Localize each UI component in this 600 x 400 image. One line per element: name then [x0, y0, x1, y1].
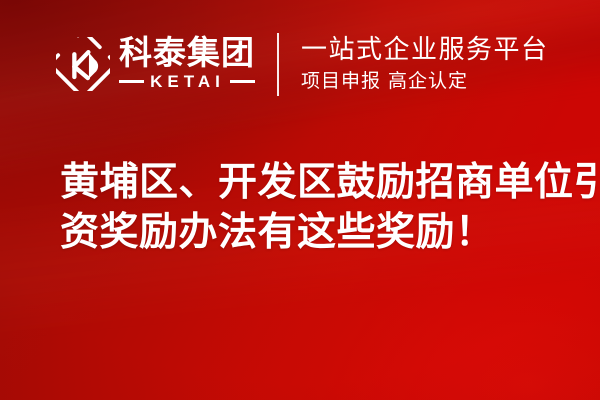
header-tagline-block: 一站式企业服务平台 项目申报 高企认定 — [301, 35, 549, 93]
headline-block: 黄埔区、开发区鼓励招商单位引 资奖励办法有这些奖励！ — [60, 158, 580, 258]
banner-header: 科泰集团 KETAI 一站式企业服务平台 项目申报 高企认定 — [0, 0, 600, 128]
ketai-diamond-kt-monogram-icon — [56, 37, 110, 91]
wordmark-rule-right — [230, 80, 255, 83]
brand-wordmark: 科泰集团 KETAI — [119, 36, 255, 92]
promo-banner: 科泰集团 KETAI 一站式企业服务平台 项目申报 高企认定 黄埔区、开发区鼓励… — [0, 0, 600, 400]
wordmark-rule-left — [119, 80, 144, 83]
headline-line-1: 黄埔区、开发区鼓励招商单位引 — [60, 158, 580, 208]
header-divider — [277, 33, 279, 96]
brand-name-latin: KETAI — [144, 72, 230, 92]
header-subtagline: 项目申报 高企认定 — [301, 70, 549, 93]
brand-logo[interactable]: 科泰集团 KETAI — [56, 36, 255, 92]
headline-line-2: 资奖励办法有这些奖励！ — [60, 208, 580, 258]
brand-latin-row: KETAI — [119, 72, 255, 92]
header-tagline: 一站式企业服务平台 — [301, 35, 549, 66]
brand-name-cn: 科泰集团 — [119, 36, 255, 71]
